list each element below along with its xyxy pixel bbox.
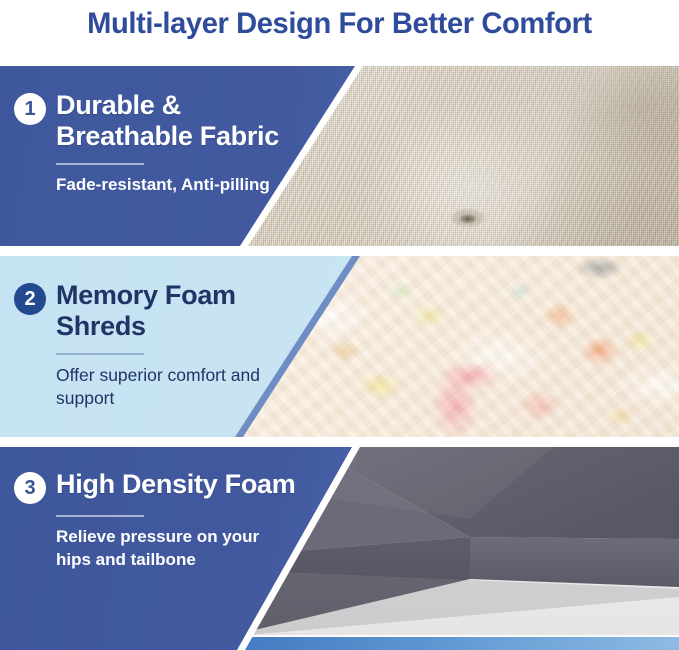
step-number-badge-2: 2	[14, 283, 46, 315]
panel-2-content: 2 Memory Foam Shreds Offer superior comf…	[0, 280, 306, 410]
panel-3-content: 3 High Density Foam Relieve pressure on …	[0, 469, 295, 571]
panel-1-headline-row: 1 Durable & Breathable Fabric	[14, 90, 306, 152]
panel-2-subtext: Offer superior comfort and support	[56, 364, 284, 411]
panel-3-divider	[56, 515, 144, 517]
page-title: Multi-layer Design For Better Comfort	[10, 0, 669, 48]
panel-3-headline: High Density Foam	[56, 469, 295, 500]
panel-1-divider	[56, 163, 144, 165]
panel-2-divider	[56, 353, 144, 355]
panel-2-headline: Memory Foam Shreds	[56, 280, 306, 342]
panel-1-subtext: Fade-resistant, Anti-pilling	[56, 174, 271, 197]
panel-1-headline: Durable & Breathable Fabric	[56, 90, 306, 152]
feature-panel-3: 3 High Density Foam Relieve pressure on …	[0, 447, 679, 650]
panel-2-headline-row: 2 Memory Foam Shreds	[14, 280, 306, 342]
multi-layer-design-infographic: Multi-layer Design For Better Comfort 1 …	[0, 0, 679, 650]
step-number-badge-3: 3	[14, 472, 46, 504]
feature-panel-1: 1 Durable & Breathable Fabric Fade-resis…	[0, 66, 679, 246]
panel-3-headline-row: 3 High Density Foam	[14, 469, 295, 504]
panel-3-subtext: Relieve pressure on your hips and tailbo…	[56, 526, 271, 571]
step-number-badge-1: 1	[14, 93, 46, 125]
panel-1-content: 1 Durable & Breathable Fabric Fade-resis…	[0, 90, 306, 196]
feature-panel-2: 2 Memory Foam Shreds Offer superior comf…	[0, 256, 679, 437]
